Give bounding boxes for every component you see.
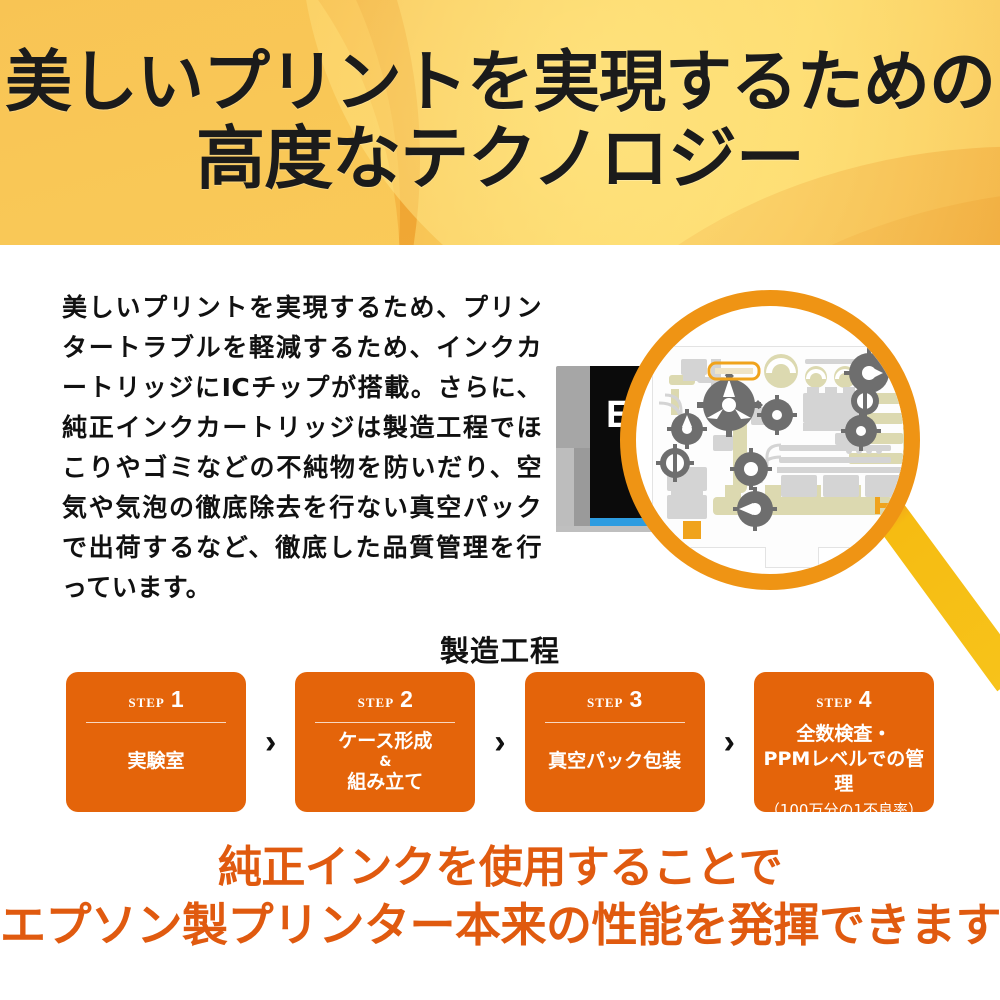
step-3-line-1: 真空パック包装 [548, 749, 681, 774]
board-connector-nub [765, 547, 819, 568]
magnifier-lens [620, 290, 920, 590]
process-step-1[interactable]: STEP 1 実験室 [66, 672, 246, 812]
step-1-line-1: 実験室 [127, 749, 184, 774]
step-4-body: 全数検査・ PPMレベルでの管理 （100万分の1不良率） [762, 722, 926, 820]
step-4-line-2: PPMレベルでの管理 [762, 747, 926, 797]
step-1-header: STEP 1 [128, 686, 183, 713]
step-3-number: 3 [629, 686, 642, 713]
header-title-group: 美しいプリントを実現するための 高度なテクノロジー [0, 0, 1000, 245]
step-2-line-1: ケース形成 [338, 729, 432, 754]
step-3-body: 真空パック包装 [533, 723, 697, 800]
footer-line-1: 純正インクを使用することで [0, 840, 1000, 896]
header-banner: 美しいプリントを実現するための 高度なテクノロジー [0, 0, 1000, 245]
step-2-label: STEP [358, 695, 395, 711]
footer-message: 純正インクを使用することで エプソン製プリンター本来の性能を発揮できます [0, 840, 1000, 954]
process-steps: STEP 1 実験室 › STEP 2 ケース形成 & 組み立て › [66, 672, 934, 812]
step-2-body: ケース形成 & 組み立て [303, 723, 467, 800]
step-4-label: STEP [816, 695, 853, 711]
circuit-board-svg [653, 347, 920, 547]
body-paragraph: 美しいプリントを実現するため、プリンタートラブルを軽減するため、インクカートリッ… [62, 288, 542, 608]
step-4-line-1: 全数検査・ [796, 722, 891, 747]
step-4-note: （100万分の1不良率） [765, 800, 923, 820]
step-4-header: STEP 4 [816, 686, 871, 713]
step-2-header: STEP 2 [358, 686, 413, 713]
step-4-number: 4 [859, 686, 872, 713]
magnifier [620, 290, 920, 590]
process-section-title: 製造工程 [0, 628, 1000, 670]
header-title-line-2: 高度なテクノロジー [0, 123, 1000, 195]
process-step-4[interactable]: STEP 4 全数検査・ PPMレベルでの管理 （100万分の1不良率） [754, 672, 934, 812]
step-separator-3: › [717, 672, 741, 812]
step-2-line-3: 組み立て [347, 770, 423, 795]
process-step-2[interactable]: STEP 2 ケース形成 & 組み立て [295, 672, 475, 812]
step-3-header: STEP 3 [587, 686, 642, 713]
step-separator-1: › [259, 672, 283, 812]
cartridge-step [574, 448, 590, 526]
cartridge-notch [556, 448, 574, 526]
step-1-number: 1 [171, 686, 184, 713]
footer-line-2: エプソン製プリンター本来の性能を発揮できます [0, 896, 1000, 954]
circuit-board-icon [652, 346, 920, 548]
process-step-3[interactable]: STEP 3 真空パック包装 [525, 672, 705, 812]
step-2-line-2: & [379, 754, 391, 770]
step-1-label: STEP [128, 695, 165, 711]
infographic-page: 美しいプリントを実現するための 高度なテクノロジー 美しいプリントを実現するため… [0, 0, 1000, 1000]
header-title-line-1: 美しいプリントを実現するための [0, 47, 1000, 117]
step-3-label: STEP [587, 695, 624, 711]
step-separator-2: › [488, 672, 512, 812]
step-1-body: 実験室 [74, 723, 238, 800]
step-2-number: 2 [400, 686, 413, 713]
